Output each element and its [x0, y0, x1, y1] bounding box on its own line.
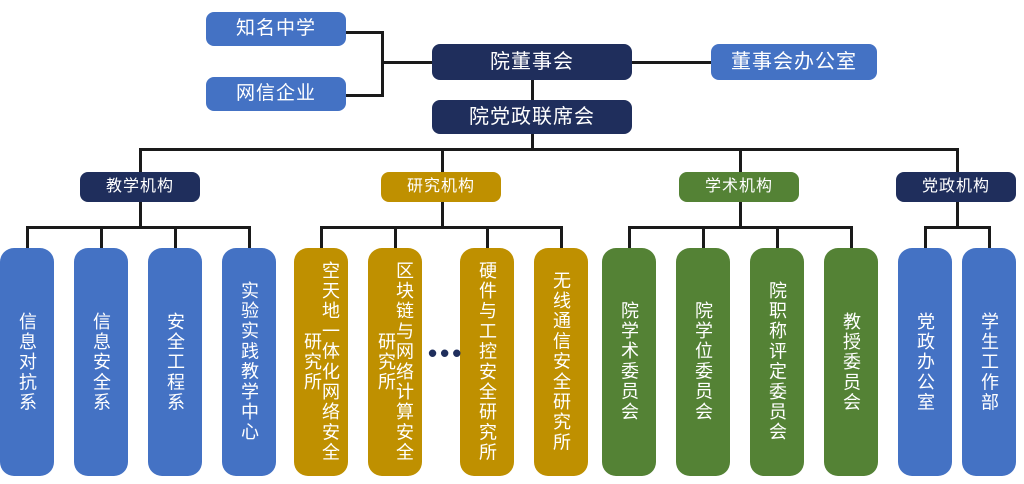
node-office-party-admin[interactable]: 党政办公室 — [898, 248, 952, 476]
connector-research-drop-1 — [320, 226, 323, 250]
connector-academic-trunk — [739, 202, 742, 229]
connector-research-trunk — [441, 202, 444, 229]
node-category-party[interactable]: 党政机构 — [896, 172, 1016, 202]
node-board-office[interactable]: 董事会办公室 — [711, 44, 877, 80]
connector-academic-drop-3 — [776, 226, 779, 250]
node-partner-school[interactable]: 知名中学 — [206, 12, 346, 46]
node-committee-degree[interactable]: 院学位委员会 — [676, 248, 730, 476]
node-category-research[interactable]: 研究机构 — [381, 172, 501, 202]
node-category-teaching[interactable]: 教学机构 — [80, 172, 200, 202]
connector-academic-bus — [628, 226, 853, 229]
connector-partners-vertical — [381, 31, 384, 97]
connector-tier2-drop-academic — [739, 148, 742, 172]
node-dept-info-countermeasure[interactable]: 信息对抗系 — [0, 248, 54, 476]
node-institute-blockchain-network[interactable]: 区块链与网络计算安全研究所 — [368, 248, 422, 476]
connector-research-drop-3 — [486, 226, 489, 250]
connector-academic-drop-4 — [850, 226, 853, 250]
connector-research-bus — [320, 226, 563, 229]
node-committee-academic[interactable]: 院学术委员会 — [602, 248, 656, 476]
org-chart: 知名中学 网信企业 院董事会 董事会办公室 院党政联席会 教学机构 研究机构 学… — [0, 0, 1024, 484]
ellipsis-more-institutes: ••• — [428, 340, 464, 366]
connector-partner-bottom — [346, 94, 384, 97]
connector-party-bus — [924, 226, 991, 229]
connector-tier2-bus — [139, 148, 959, 151]
connector-research-drop-4 — [560, 226, 563, 250]
node-dept-lab-teaching-center[interactable]: 实验实践教学中心 — [222, 248, 276, 476]
connector-teaching-trunk — [139, 202, 142, 229]
node-committee-title-evaluation[interactable]: 院职称评定委员会 — [750, 248, 804, 476]
connector-partner-top — [346, 31, 384, 34]
connector-partners-to-board — [381, 61, 433, 64]
node-joint-meeting[interactable]: 院党政联席会 — [432, 100, 632, 134]
connector-teaching-bus — [26, 226, 251, 229]
connector-academic-drop-1 — [628, 226, 631, 250]
node-dept-security-engineering[interactable]: 安全工程系 — [148, 248, 202, 476]
connector-party-trunk — [956, 202, 959, 229]
connector-teaching-drop-4 — [248, 226, 251, 250]
connector-tier2-drop-research — [441, 148, 444, 172]
node-board[interactable]: 院董事会 — [432, 44, 632, 80]
node-institute-wireless-comm[interactable]: 无线通信安全研究所 — [534, 248, 588, 476]
connector-teaching-drop-1 — [26, 226, 29, 250]
connector-party-drop-1 — [924, 226, 927, 250]
node-partner-enterprise[interactable]: 网信企业 — [206, 77, 346, 111]
connector-research-drop-2 — [394, 226, 397, 250]
node-committee-professors[interactable]: 教授委员会 — [824, 248, 878, 476]
connector-party-drop-2 — [988, 226, 991, 250]
node-office-student-affairs[interactable]: 学生工作部 — [962, 248, 1016, 476]
connector-academic-drop-2 — [702, 226, 705, 250]
connector-board-to-joint — [531, 78, 534, 100]
connector-tier2-drop-party — [956, 148, 959, 172]
node-dept-info-security[interactable]: 信息安全系 — [74, 248, 128, 476]
node-institute-hardware-ics[interactable]: 硬件与工控安全研究所 — [460, 248, 514, 476]
connector-board-to-office — [632, 61, 712, 64]
connector-teaching-drop-3 — [174, 226, 177, 250]
node-institute-space-air-ground[interactable]: 空天地一体化网络安全研究所 — [294, 248, 348, 476]
connector-teaching-drop-2 — [100, 226, 103, 250]
node-category-academic[interactable]: 学术机构 — [679, 172, 799, 202]
connector-tier2-drop-teaching — [139, 148, 142, 172]
